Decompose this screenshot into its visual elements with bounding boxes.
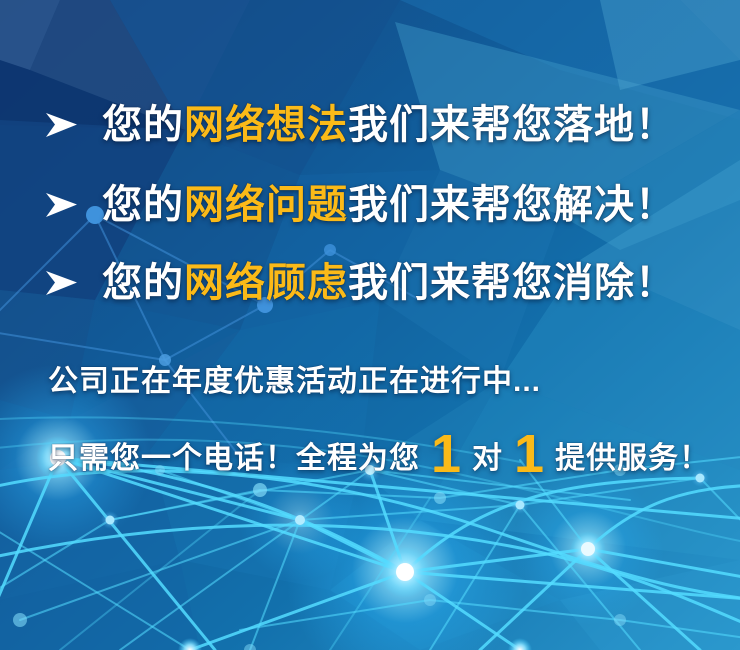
service-text-part1: 只需您一个电话！全程为您 <box>48 436 420 482</box>
headline-3-highlight: 网络顾虑 <box>184 261 348 305</box>
headline-row-3: 您的网络顾虑我们来帮您消除！ <box>44 260 676 306</box>
headline-2-highlight: 网络问题 <box>184 183 348 227</box>
headline-1-text: 您的网络想法我们来帮您落地！ <box>102 102 676 148</box>
service-number-first: 1 <box>431 431 461 477</box>
headline-2-prefix: 您的 <box>102 183 184 227</box>
headline-2-text: 您的网络问题我们来帮您解决！ <box>102 182 676 228</box>
service-text-part2: 提供服务！ <box>555 436 710 482</box>
promo-subline: 公司正在年度优惠活动正在进行中... <box>48 363 541 401</box>
service-number-second: 1 <box>514 431 544 477</box>
headline-2-suffix: 我们来帮您解决！ <box>348 183 676 227</box>
headline-1-prefix: 您的 <box>102 103 184 147</box>
headline-1-highlight: 网络想法 <box>184 103 348 147</box>
arrow-right-icon <box>44 192 78 218</box>
headline-1-suffix: 我们来帮您落地！ <box>348 103 676 147</box>
promo-banner: 您的网络想法我们来帮您落地！ 您的网络问题我们来帮您解决！ 您的网络顾虑我们来帮… <box>0 0 740 650</box>
service-text-middle: 对 <box>472 436 503 482</box>
arrow-right-icon <box>44 270 78 296</box>
arrow-right-icon <box>44 112 78 138</box>
headline-row-1: 您的网络想法我们来帮您落地！ <box>44 102 676 148</box>
headline-3-prefix: 您的 <box>102 261 184 305</box>
service-subline: 只需您一个电话！全程为您 1 对 1 提供服务！ <box>48 427 710 482</box>
banner-content: 您的网络想法我们来帮您落地！ 您的网络问题我们来帮您解决！ 您的网络顾虑我们来帮… <box>0 0 740 650</box>
headline-row-2: 您的网络问题我们来帮您解决！ <box>44 182 676 228</box>
headline-3-suffix: 我们来帮您消除！ <box>348 261 676 305</box>
headline-3-text: 您的网络顾虑我们来帮您消除！ <box>102 260 676 306</box>
